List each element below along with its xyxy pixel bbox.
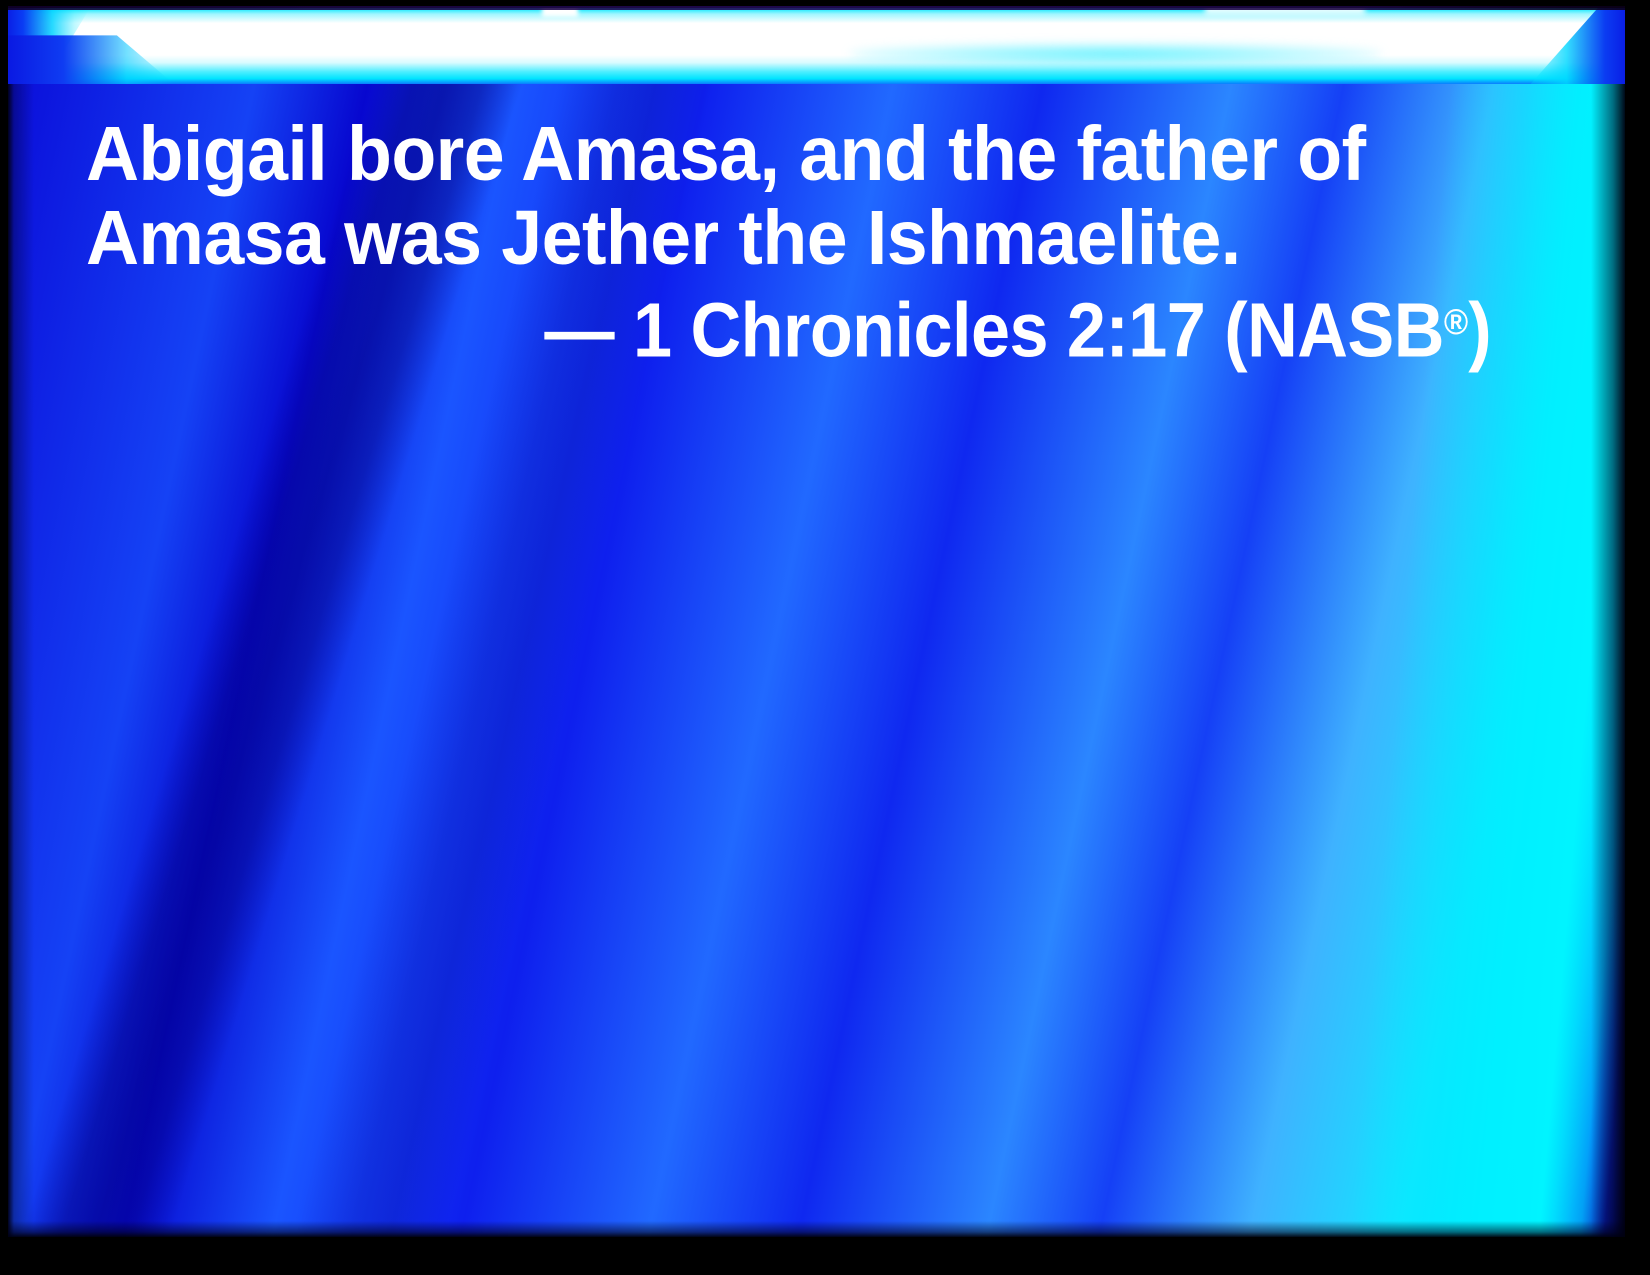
verse-line-2: Amasa was Jether the Ishmaelite. bbox=[86, 196, 1490, 280]
top-hairline bbox=[8, 6, 1625, 10]
top-band-fill bbox=[8, 8, 1625, 84]
verse-text-block: Abigail bore Amasa, and the father of Am… bbox=[86, 112, 1556, 372]
top-highlight-band bbox=[8, 8, 1625, 84]
verse-citation-inner: — 1 Chronicles 2:17 (NASB®) bbox=[544, 280, 1491, 372]
registered-trademark-icon: ® bbox=[1444, 301, 1468, 342]
verse-citation: — 1 Chronicles 2:17 (NASB®) bbox=[86, 280, 1490, 372]
verse-citation-suffix: ) bbox=[1468, 287, 1491, 373]
verse-slide: Abigail bore Amasa, and the father of Am… bbox=[0, 0, 1650, 1275]
verse-citation-prefix: — 1 Chronicles 2:17 (NASB bbox=[544, 287, 1443, 373]
verse-line-1: Abigail bore Amasa, and the father of bbox=[86, 112, 1490, 196]
